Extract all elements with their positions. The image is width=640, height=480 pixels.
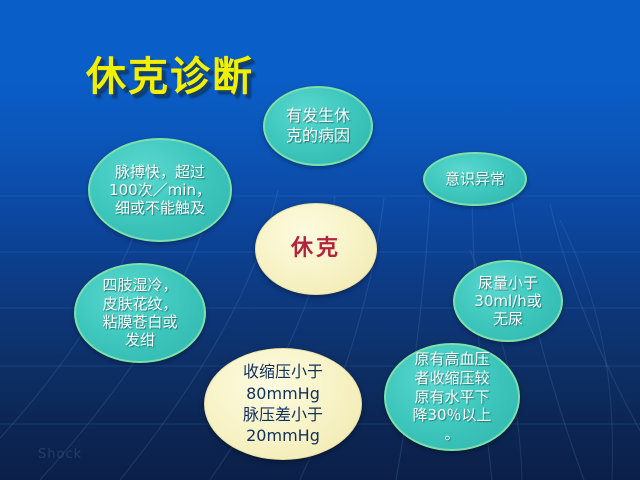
node-pulse-label: 脉搏快，超过 100次／min， 细或不能触及 [103,163,217,218]
node-blood-pressure-label: 收缩压小于 80mmHg 脉压差小于 20mmHg [237,361,329,447]
page-title: 休克诊断 [86,44,254,102]
node-cause-label: 有发生休 克的病因 [280,106,356,145]
node-center-shock[interactable]: 休克 [255,203,377,295]
node-limbs-label: 四肢湿冷， 皮肤花纹， 粘膜苍白或 发绀 [96,276,183,349]
node-pulse[interactable]: 脉搏快，超过 100次／min， 细或不能触及 [88,138,232,242]
node-limbs[interactable]: 四肢湿冷， 皮肤花纹， 粘膜苍白或 发绀 [74,263,206,363]
slide-canvas: 休克诊断 有发生休 克的病因 脉搏快，超过 100次／min， 细或不能触及 意… [0,0,640,480]
node-urine-output-label: 尿量小于 30ml/h或 无尿 [468,274,547,329]
node-consciousness[interactable]: 意识异常 [423,152,527,206]
node-consciousness-label: 意识异常 [439,170,511,188]
node-center-shock-label: 休克 [285,236,347,263]
node-hypertension-label: 原有高血压 者收缩压较 原有水平下 降30％以上 。 [406,350,497,444]
node-blood-pressure[interactable]: 收缩压小于 80mmHg 脉压差小于 20mmHg [204,348,362,460]
node-cause[interactable]: 有发生休 克的病因 [263,86,373,166]
node-urine-output[interactable]: 尿量小于 30ml/h或 无尿 [453,260,563,342]
node-hypertension[interactable]: 原有高血压 者收缩压较 原有水平下 降30％以上 。 [384,343,520,451]
watermark: Shock [38,447,82,462]
